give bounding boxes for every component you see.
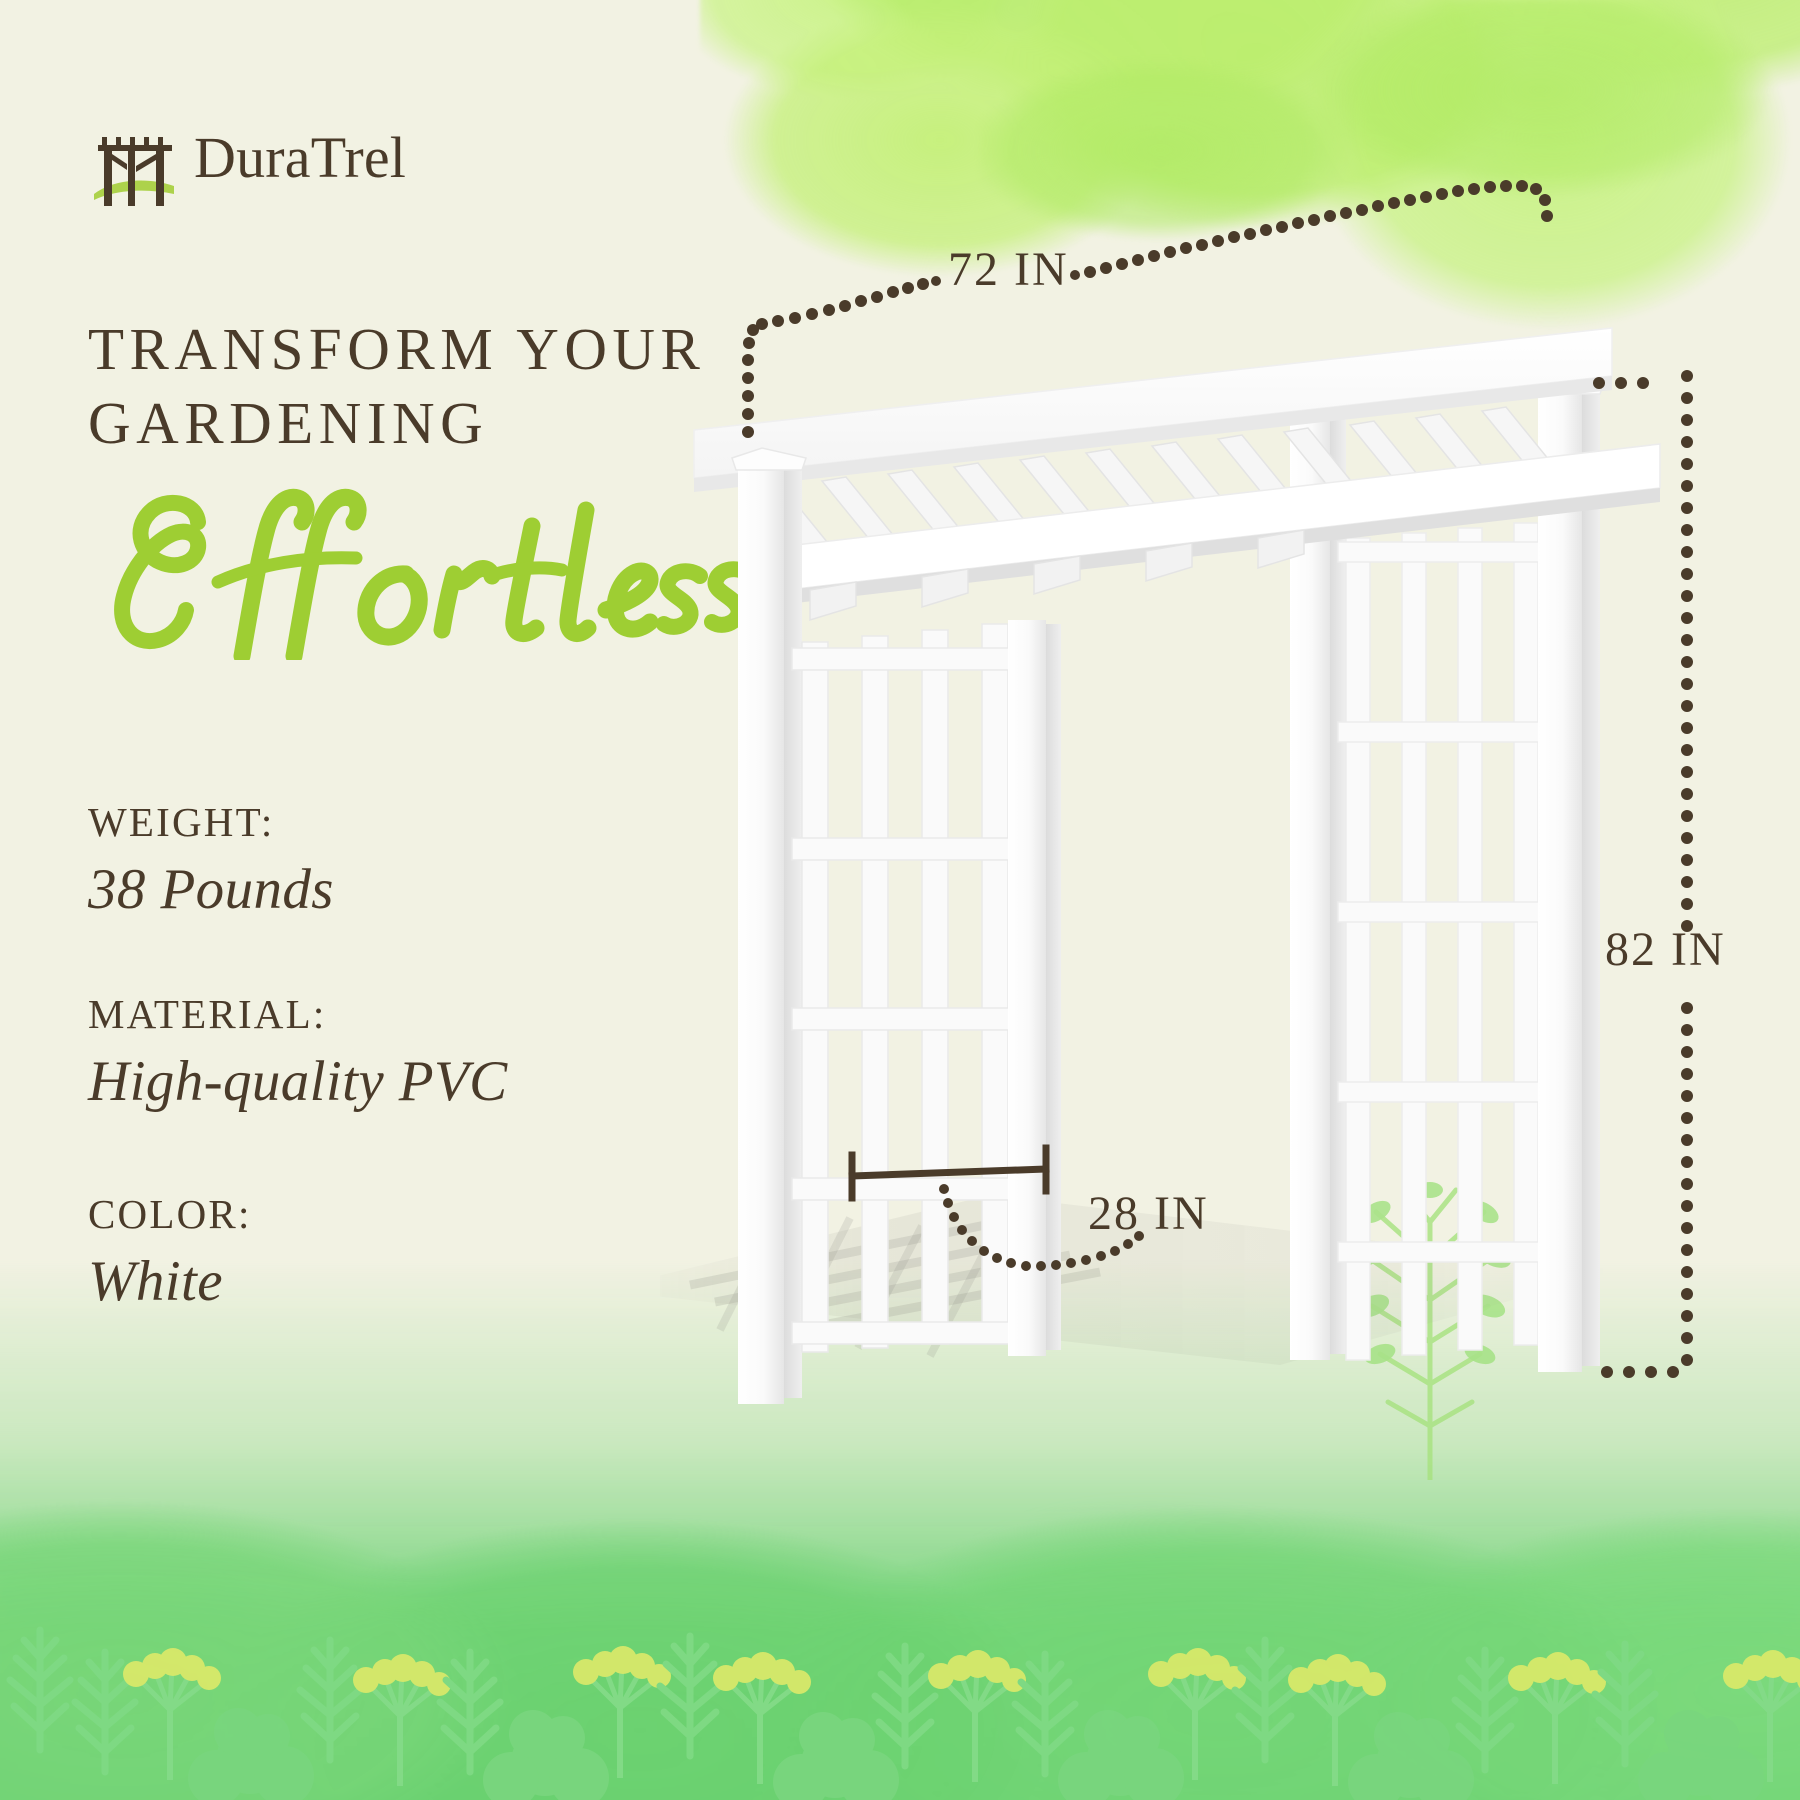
product-image-pergola xyxy=(660,290,1720,1410)
spec-weight-label: WEIGHT: xyxy=(88,798,334,846)
watercolor-splash-top-right-secondary xyxy=(980,0,1800,330)
pergola-arbor-illustration xyxy=(660,290,1720,1410)
spec-weight: WEIGHT: 38 Pounds xyxy=(88,798,334,926)
post-front-right xyxy=(1532,372,1604,1372)
infographic-canvas: DuraTrel TRANSFORM YOUR GARDENING xyxy=(0,0,1800,1800)
dimension-label-depth: 28 IN xyxy=(1088,1186,1209,1241)
dimension-label-width: 72 IN xyxy=(948,242,1069,297)
spec-material-label: MATERIAL: xyxy=(88,990,508,1038)
spec-weight-value: 38 Pounds xyxy=(88,854,334,926)
spec-color-label: COLOR: xyxy=(88,1190,252,1238)
pergola-arbor-icon xyxy=(88,132,184,206)
spec-color-value: White xyxy=(88,1246,252,1318)
brand-name: DuraTrel xyxy=(194,124,406,191)
spec-material-value: High-quality PVC xyxy=(88,1046,508,1118)
post-front-left xyxy=(732,448,806,1404)
dimension-label-height: 82 IN xyxy=(1605,922,1726,977)
spec-color: COLOR: White xyxy=(88,1190,252,1318)
trellis-right xyxy=(1338,523,1546,1360)
brand-logo[interactable]: DuraTrel xyxy=(88,128,508,208)
post-rear-left xyxy=(1008,620,1061,1356)
spec-material: MATERIAL: High-quality PVC xyxy=(88,990,508,1118)
